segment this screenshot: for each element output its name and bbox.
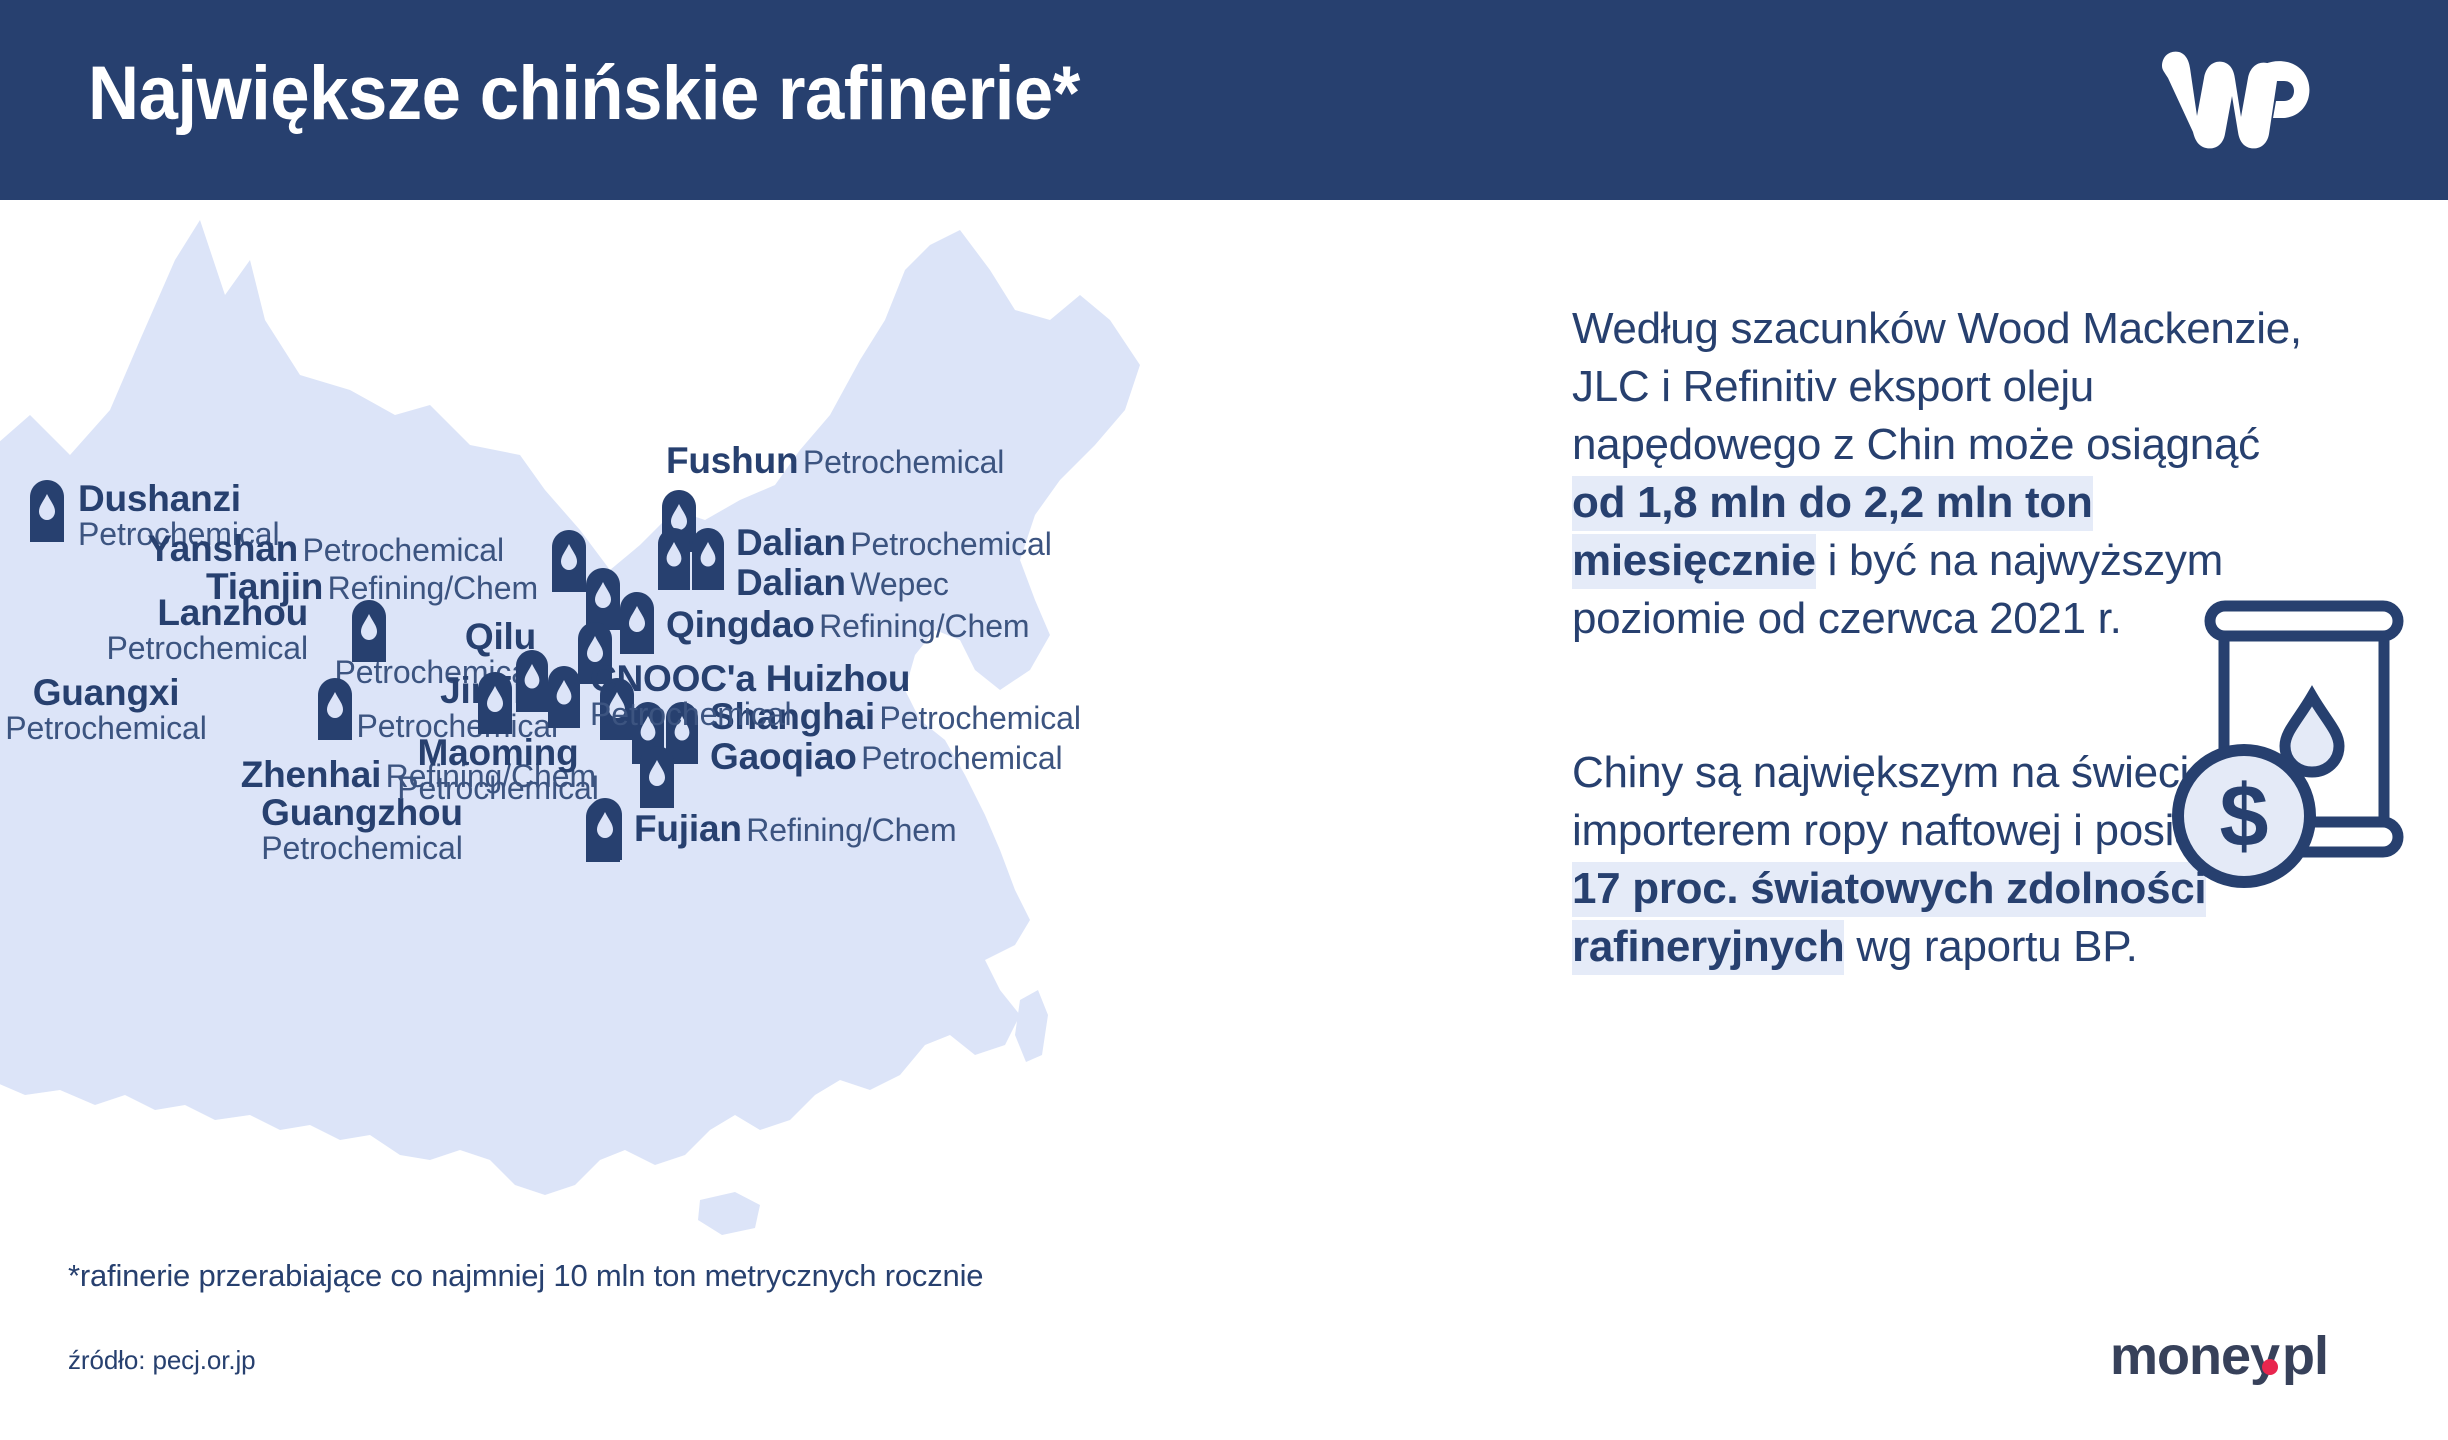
svg-text:money: money (2110, 1326, 2280, 1386)
refinery-marker-icon (588, 798, 622, 860)
footnote-text: *rafinerie przerabiające co najmniej 10 … (68, 1258, 983, 1294)
svg-text:pl: pl (2282, 1326, 2328, 1386)
refinery-marker-double-icon (658, 528, 724, 590)
oil-barrel-dollar-icon: $ (2162, 600, 2442, 900)
p2-part2: wg raportu BP. (1844, 922, 2137, 971)
insight-paragraph-1: Według szacunków Wood Mackenzie, JLC i R… (1572, 300, 2312, 648)
refinery-marker-icon (552, 530, 586, 592)
refinery-marker-icon (620, 592, 654, 654)
svg-text:$: $ (2220, 766, 2269, 865)
page-title: Największe chińskie rafinerie* (88, 34, 1080, 154)
poi-label-dalian-wepec: Dalian Wepec (736, 564, 949, 602)
refinery-marker-double-icon (516, 650, 580, 728)
poi-label-fushun: Fushun Petrochemical (666, 442, 1004, 480)
money-pl-logo: money pl (2110, 1322, 2340, 1392)
poi-label-gaoqiao: Gaoqiao Petrochemical (710, 738, 1063, 776)
source-text: źródło: pecj.or.jp (68, 1345, 256, 1376)
refinery-marker-icon (318, 678, 352, 740)
china-map-panel: Dushanzi Petrochemical Yanshan Petrochem… (0, 200, 1560, 1240)
p1-part1: Według szacunków Wood Mackenzie, JLC i R… (1572, 304, 2302, 469)
poi-label-qingdao: Qingdao Refining/Chem (666, 606, 1029, 644)
poi-label-fujian: Fujian Refining/Chem (634, 810, 957, 848)
refinery-marker-icon (586, 568, 620, 630)
poi-label-cnooc-huizhou: CNOOC'a Huizhou Petrochemical (590, 660, 910, 730)
wp-logo (2148, 44, 2328, 154)
poi-label-guangxi: Guangxi Petrochemical (0, 674, 276, 744)
poi-label-maoming: Maoming Petrochemical (348, 734, 648, 804)
header-bar: Największe chińskie rafinerie* (0, 0, 2448, 200)
poi-label-yanshan: Yanshan Petrochemical (44, 530, 504, 568)
poi-label-dalian-petrochemical: Dalian Petrochemical (736, 524, 1052, 562)
refinery-marker-icon (478, 672, 512, 734)
